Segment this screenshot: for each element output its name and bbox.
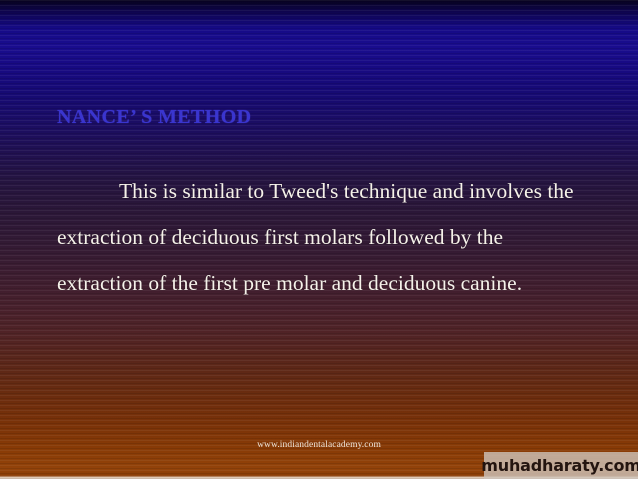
watermark-badge: muhadharaty.com xyxy=(484,452,638,479)
slide-title: NANCE’ S METHOD xyxy=(57,106,252,129)
watermark-label: muhadharaty.com xyxy=(481,456,638,475)
slide-body-text: This is similar to Tweed's technique and… xyxy=(57,168,587,306)
footer-website-url: www.indiandentalacademy.com xyxy=(0,440,638,450)
presentation-slide: NANCE’ S METHOD This is similar to Tweed… xyxy=(0,0,638,479)
